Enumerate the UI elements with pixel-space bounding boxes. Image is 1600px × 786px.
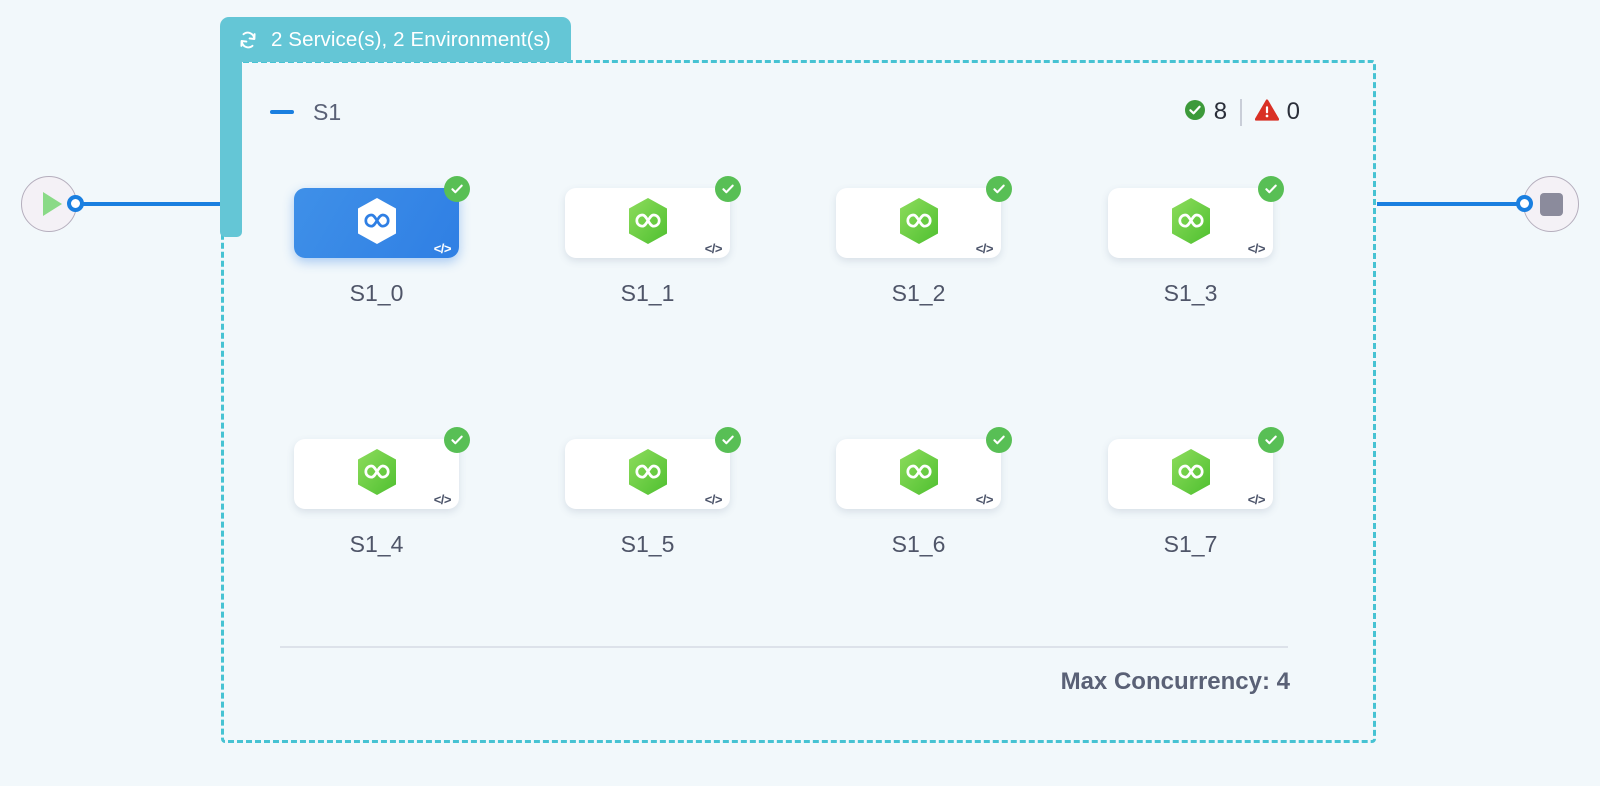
node-label: S1_6 [836,531,1001,558]
node-s1_0[interactable]: </>S1_0 [294,188,464,307]
group-left-rail [220,52,242,237]
status-success: 8 [1184,98,1227,126]
hexagon-loop-icon [353,196,401,251]
check-circle-icon [1258,176,1284,202]
group-status-cluster: 8 0 [1184,98,1300,126]
check-circle-icon [715,427,741,453]
hexagon-loop-icon [1167,447,1215,502]
check-circle-icon [444,427,470,453]
node-card[interactable]: </> [565,439,730,509]
check-circle-icon [1258,427,1284,453]
group-container[interactable] [221,60,1376,743]
code-brackets-icon[interactable]: </> [976,492,993,507]
loop-repeat-icon [236,28,260,52]
status-error: 0 [1255,98,1300,126]
node-card[interactable]: </> [294,439,459,509]
play-icon [43,192,62,216]
code-brackets-icon[interactable]: </> [434,241,451,256]
edge-group-to-end [1377,202,1524,206]
code-brackets-icon[interactable]: </> [434,492,451,507]
check-circle-icon [715,176,741,202]
code-brackets-icon[interactable]: </> [705,241,722,256]
node-card[interactable]: </> [1108,439,1273,509]
minus-icon[interactable] [270,110,294,114]
status-divider [1240,99,1242,126]
group-header-label: 2 Service(s), 2 Environment(s) [271,28,551,52]
node-s1_2[interactable]: </>S1_2 [836,188,1006,307]
hexagon-loop-icon [353,447,401,502]
group-header-badge[interactable]: 2 Service(s), 2 Environment(s) [220,17,571,62]
node-s1_4[interactable]: </>S1_4 [294,439,464,558]
hexagon-loop-icon [624,196,672,251]
group-name-label: S1 [313,99,341,126]
node-s1_7[interactable]: </>S1_7 [1108,439,1278,558]
node-label: S1_2 [836,280,1001,307]
code-brackets-icon[interactable]: </> [1248,241,1265,256]
hexagon-loop-icon [624,447,672,502]
node-card[interactable]: </> [294,188,459,258]
end-node-input-handle[interactable] [1516,195,1533,212]
hexagon-loop-icon [895,447,943,502]
node-label: S1_1 [565,280,730,307]
node-card[interactable]: </> [836,439,1001,509]
group-title-row: S1 8 [270,95,1300,129]
edge-start-to-group [75,202,222,206]
node-label: S1_7 [1108,531,1273,558]
group-footer-divider [280,646,1288,648]
code-brackets-icon[interactable]: </> [976,241,993,256]
node-card[interactable]: </> [1108,188,1273,258]
node-s1_5[interactable]: </>S1_5 [565,439,735,558]
check-circle-icon [986,427,1012,453]
warning-triangle-icon [1255,99,1279,126]
code-brackets-icon[interactable]: </> [705,492,722,507]
node-s1_1[interactable]: </>S1_1 [565,188,735,307]
status-success-count: 8 [1214,98,1227,126]
max-concurrency-label: Max Concurrency: 4 [1061,668,1290,696]
node-label: S1_5 [565,531,730,558]
node-s1_3[interactable]: </>S1_3 [1108,188,1278,307]
stop-icon [1540,193,1563,216]
node-label: S1_4 [294,531,459,558]
node-label: S1_0 [294,280,459,307]
start-node-output-handle[interactable] [67,195,84,212]
node-card[interactable]: </> [565,188,730,258]
hexagon-loop-icon [1167,196,1215,251]
code-brackets-icon[interactable]: </> [1248,492,1265,507]
check-circle-icon [1184,99,1206,126]
node-label: S1_3 [1108,280,1273,307]
workflow-canvas: 2 Service(s), 2 Environment(s) S1 8 [0,0,1600,786]
check-circle-icon [444,176,470,202]
hexagon-loop-icon [895,196,943,251]
check-circle-icon [986,176,1012,202]
node-card[interactable]: </> [836,188,1001,258]
node-s1_6[interactable]: </>S1_6 [836,439,1006,558]
status-error-count: 0 [1287,98,1300,126]
